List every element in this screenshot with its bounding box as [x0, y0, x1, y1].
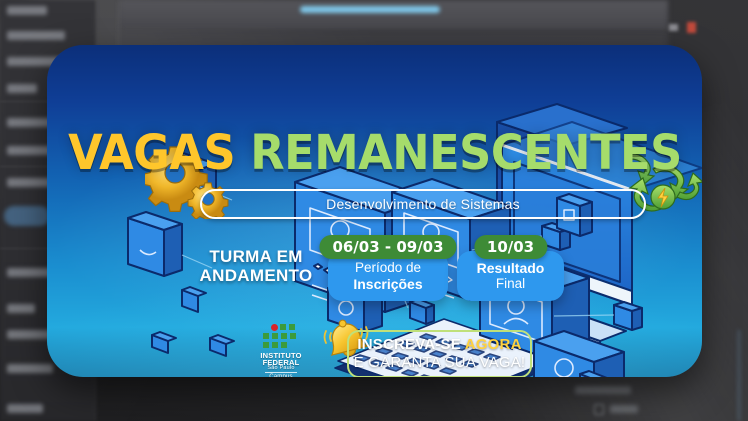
- background-sidebar-row: [7, 31, 65, 40]
- background-sidebar-row: [7, 6, 47, 15]
- title-word-2: REMANESCENTES: [250, 125, 682, 181]
- background-right-edge: [738, 330, 740, 421]
- cta-line1: INSCREVA-SE AGORA: [357, 337, 521, 354]
- schedule-card-line2: Final: [496, 276, 525, 292]
- background-sidebar-row: [7, 404, 43, 413]
- cta-box[interactable]: INSCREVA-SE AGORA E GARANTA SUA VAGA!: [347, 330, 532, 377]
- background-close-icon: [687, 22, 696, 33]
- schedule-card-line1: Resultado: [477, 260, 545, 276]
- cta-line1-highlight: AGORA: [465, 336, 522, 353]
- flyer-title: VAGAS REMANESCENTES: [47, 123, 702, 183]
- schedule-card-line2: Inscrições: [353, 276, 422, 292]
- background-sidebar-selected-chip: [4, 206, 50, 226]
- ifsp-logo: INSTITUTO FEDERAL São Paulo Campus Guaru…: [255, 324, 307, 377]
- background-footer-row: [610, 405, 638, 413]
- ifsp-logo-mark: [263, 324, 299, 350]
- background-footer-icon: [594, 404, 604, 415]
- background-sidebar-row: [7, 364, 53, 373]
- background-minimize-icon: [669, 24, 678, 31]
- schedule-card-resultado: 10/03 Resultado Final: [457, 251, 564, 301]
- flyer-card: VAGAS REMANESCENTES Desenvolvimento de S…: [47, 45, 702, 377]
- schedule-date-badge: 06/03 - 09/03: [319, 235, 456, 259]
- course-name-label: Desenvolvimento de Sistemas: [326, 196, 520, 212]
- class-status-line2: ANDAMENTO: [193, 266, 319, 285]
- screen: VAGAS REMANESCENTES Desenvolvimento de S…: [0, 0, 748, 421]
- schedule-card-inscricoes: 06/03 - 09/03 Período de Inscrições: [328, 251, 448, 301]
- class-status-line1: TURMA EM: [193, 247, 319, 266]
- background-sidebar-row: [7, 84, 37, 93]
- course-name-pill: Desenvolvimento de Sistemas: [200, 189, 646, 219]
- title-word-1: VAGAS: [68, 125, 235, 181]
- schedule-card-line1: Período de: [355, 260, 421, 276]
- cta-line2: E GARANTA SUA VAGA!: [354, 354, 526, 371]
- background-window-accent: [300, 6, 440, 13]
- ifsp-logo-line3: São Paulo: [255, 365, 307, 371]
- background-footer-row: [575, 386, 631, 394]
- class-status-label: TURMA EM ANDAMENTO: [193, 247, 319, 285]
- ifsp-logo-divider: [265, 372, 297, 373]
- schedule-date-badge: 10/03: [474, 235, 547, 259]
- cta-line1-part1: INSCREVA-SE: [357, 336, 464, 353]
- background-sidebar-row: [7, 304, 35, 313]
- background-window-titlebar: [120, 0, 668, 30]
- ifsp-logo-line4: Campus: [255, 374, 307, 377]
